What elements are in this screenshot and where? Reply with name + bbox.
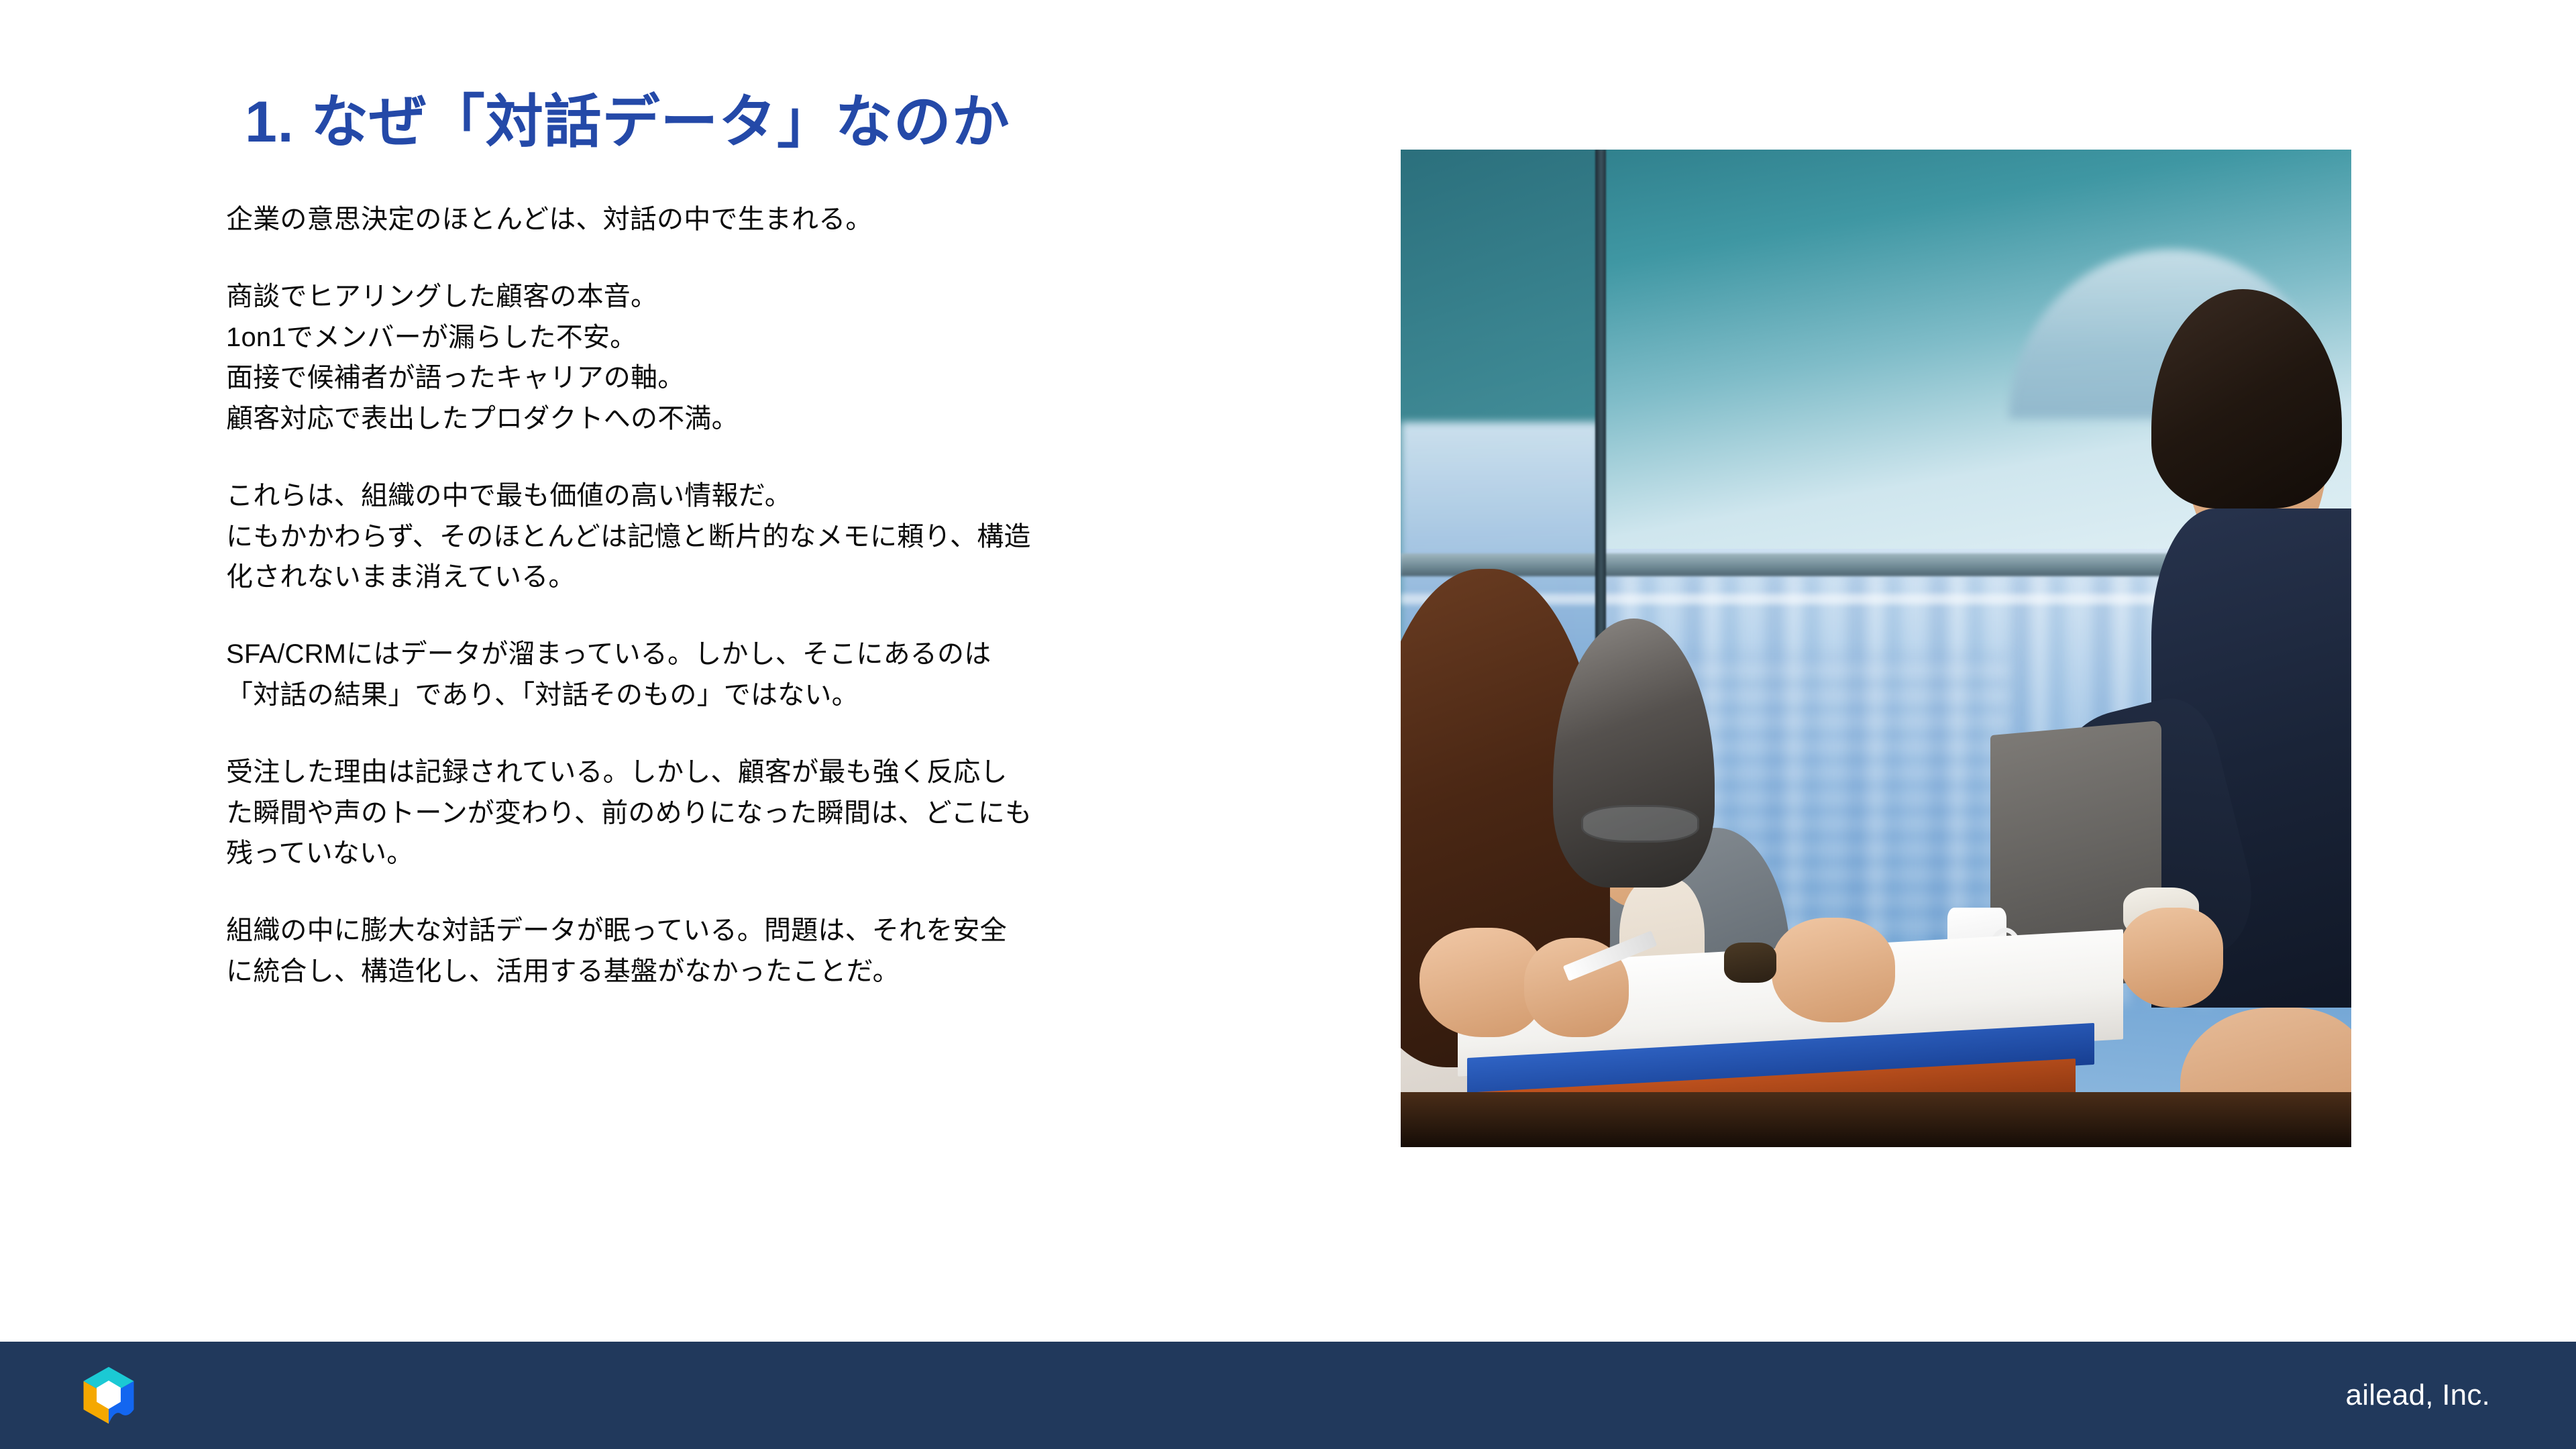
photo-scene	[1401, 150, 2351, 1147]
slide-root: 1. なぜ「対話データ」なのか 企業の意思決定のほとんどは、対話の中で生まれる。…	[0, 0, 2576, 1449]
body-line: 顧客対応で表出したプロダクトへの不満。	[226, 398, 1246, 439]
body-block-1: 企業の意思決定のほとんどは、対話の中で生まれる。	[226, 199, 1246, 240]
body-block-2: 商談でヒアリングした顧客の本音。 1on1でメンバーが漏らした不安。 面接で候補…	[226, 276, 1246, 439]
hand-center-man	[1772, 918, 1895, 1022]
body-line: に統合し、構造化し、活用する基盤がなかったことだ。	[226, 951, 1246, 992]
body-block-4: SFA/CRMにはデータが溜まっている。しかし、そこにあるのは 「対話の結果」で…	[226, 634, 1246, 716]
body-line: 商談でヒアリングした顧客の本音。	[226, 276, 1246, 317]
page-title: 1. なぜ「対話データ」なのか	[245, 87, 1246, 158]
body-line: 企業の意思決定のほとんどは、対話の中で生まれる。	[226, 199, 1246, 240]
wooden-table	[1401, 1092, 2351, 1147]
content-column: 1. なぜ「対話データ」なのか 企業の意思決定のほとんどは、対話の中で生まれる。…	[226, 87, 1246, 992]
body-line: これらは、組織の中で最も価値の高い情報だ。	[226, 476, 1246, 517]
person-center-man-glasses	[1581, 805, 1699, 843]
body-block-5: 受注した理由は記録されている。しかし、顧客が最も強く反応し た瞬間や声のトーンが…	[226, 752, 1246, 874]
body-line: 組織の中に膨大な対話データが眠っている。問題は、それを安全	[226, 910, 1246, 951]
body-line: にもかかわらず、そのほとんどは記憶と断片的なメモに頼り、構造	[226, 517, 1246, 557]
meeting-photo	[1401, 150, 2351, 1147]
person-right-man-hand	[2118, 908, 2223, 1008]
body-line: 受注した理由は記録されている。しかし、顧客が最も強く反応し	[226, 752, 1246, 793]
body-block-3: これらは、組織の中で最も価値の高い情報だ。 にもかかわらず、そのほとんどは記憶と…	[226, 476, 1246, 598]
wristwatch	[1724, 943, 1776, 982]
body-line: SFA/CRMにはデータが溜まっている。しかし、そこにあるのは	[226, 634, 1246, 675]
slide-footer: ailead, Inc.	[0, 1342, 2576, 1449]
body-line: 面接で候補者が語ったキャリアの軸。	[226, 358, 1246, 398]
body-block-6: 組織の中に膨大な対話データが眠っている。問題は、それを安全 に統合し、構造化し、…	[226, 910, 1246, 992]
ailead-cube-logo-icon	[80, 1366, 137, 1425]
body-line: た瞬間や声のトーンが変わり、前のめりになった瞬間は、どこにも	[226, 793, 1246, 834]
body-line: 1on1でメンバーが漏らした不安。	[226, 317, 1246, 358]
body-line: 化されないまま消えている。	[226, 557, 1246, 598]
body-line: 残っていない。	[226, 833, 1246, 874]
footer-company-name: ailead, Inc.	[2346, 1379, 2490, 1412]
body-line: 「対話の結果」であり、「対話そのもの」ではない。	[226, 675, 1246, 716]
